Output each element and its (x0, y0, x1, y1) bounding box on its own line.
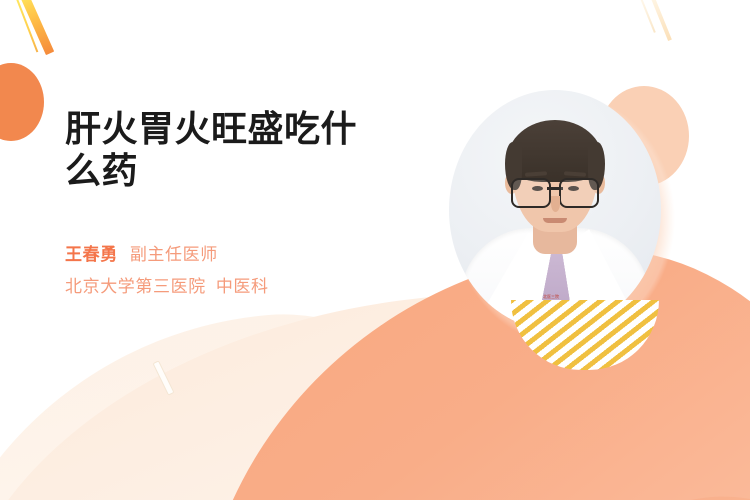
coral-wave-bump-shape (556, 479, 750, 500)
doctor-photo: 北医三院 Peking University Third Hospital (449, 90, 661, 330)
page-title: 肝火胃火旺盛吃什 么药 (65, 108, 415, 193)
portrait-group: 北医三院 Peking University Third Hospital (447, 86, 679, 354)
eyeglass-lens-left (511, 178, 551, 208)
doctor-department: 中医科 (216, 277, 269, 296)
doctor-hospital: 北京大学第三医院 (65, 277, 206, 296)
doctor-role: 副主任医师 (130, 245, 218, 264)
nose-shape (551, 196, 560, 212)
text-block: 肝火胃火旺盛吃什 么药 王春勇副主任医师 北京大学第三医院中医科 (65, 108, 415, 304)
doctor-byline: 王春勇副主任医师 北京大学第三医院中医科 (65, 239, 415, 304)
doctor-affiliation: 北京大学第三医院中医科 (65, 271, 415, 303)
mouth-shape (543, 218, 567, 223)
top-left-thick-diagonal-stroke (21, 0, 54, 55)
doctor-name: 王春勇 (65, 245, 118, 264)
eyeglass-lens-right (559, 178, 599, 208)
left-orange-circle-shape (0, 63, 44, 141)
info-card: 北医三院 Peking University Third Hospital 肝火… (0, 0, 750, 500)
top-right-diagonal-stroke-a (650, 0, 672, 41)
